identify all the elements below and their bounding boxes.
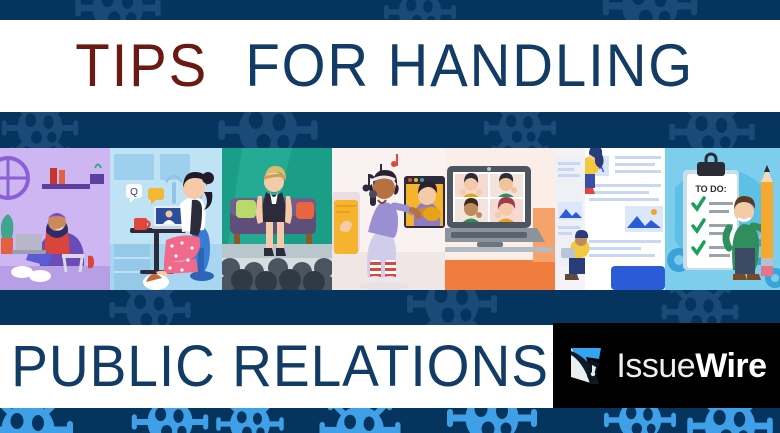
issuewire-logo[interactable]: IssueWire xyxy=(553,323,780,408)
subtitle-text: PUBLIC RELATIONS xyxy=(11,338,549,396)
illustration-strip: Q xyxy=(0,148,780,290)
panel-laptop-group-call xyxy=(445,148,555,290)
title-accent-word: TIPS xyxy=(76,36,209,96)
panel-stage-sofa-audience xyxy=(222,148,332,290)
svg-text:Q: Q xyxy=(130,187,138,198)
panel-kitchen-video-call: Q xyxy=(110,148,222,290)
logo-word-issue: Issue xyxy=(616,347,695,385)
svg-text:TO DO:: TO DO: xyxy=(695,184,726,194)
panel-singer-headphones xyxy=(332,148,445,290)
panel-todo-clipboard: TO DO: xyxy=(665,148,780,290)
panel-article-layout: A xyxy=(555,148,665,290)
logo-wordmark: IssueWire xyxy=(616,349,766,383)
title-rest: FOR HANDLING xyxy=(246,36,695,96)
page-subtitle: PUBLIC RELATIONS xyxy=(0,325,560,408)
logo-word-wire: Wire xyxy=(695,347,766,385)
panel-home-office-beanbag xyxy=(0,148,110,290)
pen-nib-icon xyxy=(566,343,612,389)
press-release-banner: TIPS FOR HANDLING PUBLIC RELATIONS Issue… xyxy=(0,0,780,433)
page-title: TIPS FOR HANDLING xyxy=(0,20,780,112)
